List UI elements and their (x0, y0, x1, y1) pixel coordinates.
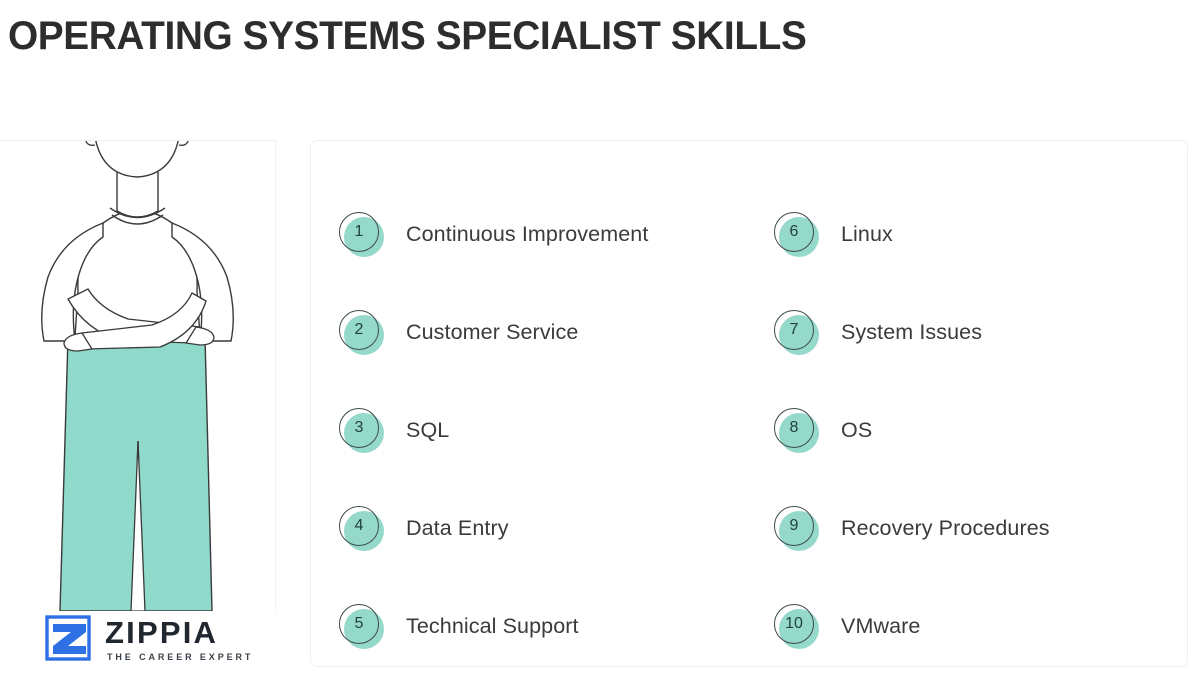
skill-number-badge-10: 10 (774, 604, 819, 649)
skill-item-10[interactable]: 10 VMware (774, 577, 1187, 675)
badge-number: 4 (339, 506, 379, 546)
zippia-wordmark: ZIPPIA (105, 617, 253, 648)
skill-item-4[interactable]: 4 Data Entry (339, 479, 752, 577)
skill-label: VMware (841, 614, 920, 639)
skill-label: SQL (406, 418, 449, 443)
infographic-page: OPERATING SYSTEMS SPECIALIST SKILLS (0, 0, 1200, 675)
skill-number-badge-4: 4 (339, 506, 384, 551)
skill-number-badge-6: 6 (774, 212, 819, 257)
skill-label: Technical Support (406, 614, 579, 639)
badge-number: 1 (339, 212, 379, 252)
skill-item-7[interactable]: 7 System Issues (774, 283, 1187, 381)
badge-number: 10 (774, 604, 814, 644)
skill-item-9[interactable]: 9 Recovery Procedures (774, 479, 1187, 577)
skill-label: System Issues (841, 320, 982, 345)
badge-number: 2 (339, 310, 379, 350)
skill-label: Data Entry (406, 516, 509, 541)
skill-item-2[interactable]: 2 Customer Service (339, 283, 752, 381)
skill-number-badge-8: 8 (774, 408, 819, 453)
zippia-logo[interactable]: ZIPPIA THE CAREER EXPERT (42, 612, 253, 664)
skills-column-right: 6 Linux 7 System Issues (752, 141, 1187, 666)
skill-number-badge-9: 9 (774, 506, 819, 551)
badge-number: 9 (774, 506, 814, 546)
badge-number: 7 (774, 310, 814, 350)
skill-label: Linux (841, 222, 893, 247)
skill-item-5[interactable]: 5 Technical Support (339, 577, 752, 675)
illustration-panel (0, 140, 276, 610)
skill-number-badge-3: 3 (339, 408, 384, 453)
badge-number: 3 (339, 408, 379, 448)
badge-number: 6 (774, 212, 814, 252)
skill-item-8[interactable]: 8 OS (774, 381, 1187, 479)
badge-number: 5 (339, 604, 379, 644)
skill-number-badge-1: 1 (339, 212, 384, 257)
zippia-z-mark-icon (42, 612, 94, 664)
skill-number-badge-5: 5 (339, 604, 384, 649)
zippia-tagline: THE CAREER EXPERT (107, 653, 253, 662)
skills-column-left: 1 Continuous Improvement 2 Customer Serv… (311, 141, 752, 666)
skill-number-badge-7: 7 (774, 310, 819, 355)
skill-label: Recovery Procedures (841, 516, 1050, 541)
skill-number-badge-2: 2 (339, 310, 384, 355)
skill-label: Customer Service (406, 320, 578, 345)
person-illustration-icon (0, 141, 276, 611)
zippia-text-block: ZIPPIA THE CAREER EXPERT (105, 615, 253, 662)
page-title: OPERATING SYSTEMS SPECIALIST SKILLS (8, 14, 806, 59)
skill-label: Continuous Improvement (406, 222, 648, 247)
skill-item-6[interactable]: 6 Linux (774, 185, 1187, 283)
skills-card: 1 Continuous Improvement 2 Customer Serv… (310, 140, 1188, 667)
skills-columns: 1 Continuous Improvement 2 Customer Serv… (311, 141, 1187, 666)
badge-number: 8 (774, 408, 814, 448)
skill-label: OS (841, 418, 872, 443)
skill-item-1[interactable]: 1 Continuous Improvement (339, 185, 752, 283)
skill-item-3[interactable]: 3 SQL (339, 381, 752, 479)
